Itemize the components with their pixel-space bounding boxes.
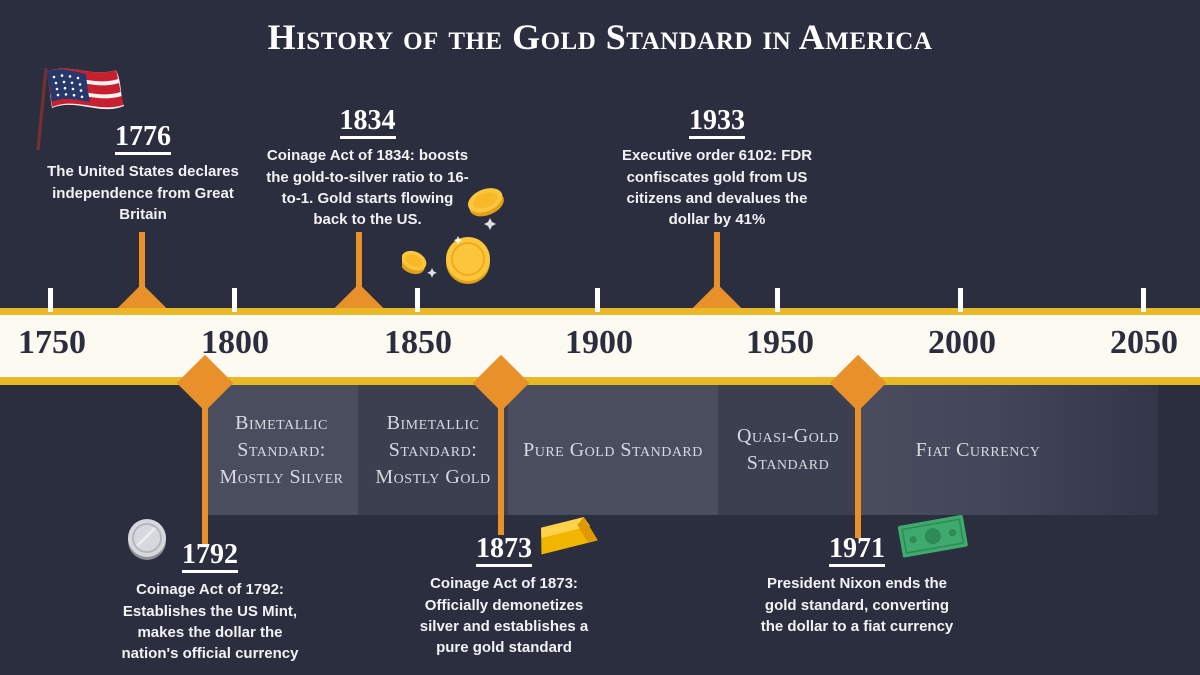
callout-1873: 1873 Coinage Act of 1873: Officially dem… xyxy=(404,534,604,659)
stem-1971 xyxy=(855,390,861,538)
callout-year-1971: 1971 xyxy=(829,534,885,567)
callout-text-1873: Coinage Act of 1873: Officially demoneti… xyxy=(404,573,604,658)
axis-tick xyxy=(1141,288,1146,312)
axis-year-1950: 1950 xyxy=(746,324,814,362)
axis-tick xyxy=(232,288,237,312)
era-label: Quasi-Gold Standard xyxy=(718,423,858,477)
era-band-fiat-currency: Fiat Currency xyxy=(858,385,1158,515)
era-band-bimetallic-gold: Bimetallic Standard: Mostly Gold xyxy=(358,385,508,515)
axis-year-2050: 2050 xyxy=(1110,324,1178,362)
page-title: History of the Gold Standard in America xyxy=(0,16,1200,58)
axis-year-1850: 1850 xyxy=(384,324,452,362)
axis-year-1750: 1750 xyxy=(18,324,86,362)
gold-coins-icon xyxy=(402,188,512,293)
callout-1792: 1792 Coinage Act of 1792: Establishes th… xyxy=(110,540,310,665)
axis-tick xyxy=(48,288,53,312)
callout-text-1792: Coinage Act of 1792: Establishes the US … xyxy=(110,579,310,664)
axis-year-1800: 1800 xyxy=(201,324,269,362)
callout-year-1933: 1933 xyxy=(689,106,745,139)
era-label: Pure Gold Standard xyxy=(523,437,703,464)
era-band-quasi-gold: Quasi-Gold Standard xyxy=(718,385,858,515)
callout-text-1971: President Nixon ends the gold standard, … xyxy=(752,573,962,637)
axis-tick xyxy=(595,288,600,312)
axis-year-1900: 1900 xyxy=(565,324,633,362)
era-label: Bimetallic Standard: Mostly Silver xyxy=(205,410,358,491)
callout-year-1792: 1792 xyxy=(182,540,238,573)
callout-year-1873: 1873 xyxy=(476,534,532,567)
callout-text-1933: Executive order 6102: FDR confiscates go… xyxy=(608,145,826,230)
era-label: Bimetallic Standard: Mostly Gold xyxy=(358,410,508,491)
axis-year-2000: 2000 xyxy=(928,324,996,362)
stem-1792 xyxy=(202,390,208,545)
era-label: Fiat Currency xyxy=(916,437,1041,464)
stem-1873 xyxy=(498,390,504,535)
callout-text-1776: The United States declares independence … xyxy=(42,161,244,225)
axis-tick xyxy=(775,288,780,312)
callout-year-1834: 1834 xyxy=(340,106,396,139)
axis-tick xyxy=(958,288,963,312)
axis-tick xyxy=(415,288,420,312)
timeline-infographic: History of the Gold Standard in America … xyxy=(0,0,1200,675)
era-band-bimetallic-silver: Bimetallic Standard: Mostly Silver xyxy=(205,385,358,515)
us-flag-icon xyxy=(30,62,140,157)
era-band-pure-gold: Pure Gold Standard xyxy=(508,385,718,515)
callout-1971: 1971 President Nixon ends the gold stand… xyxy=(752,534,962,637)
callout-1933: 1933 Executive order 6102: FDR confiscat… xyxy=(608,106,826,231)
